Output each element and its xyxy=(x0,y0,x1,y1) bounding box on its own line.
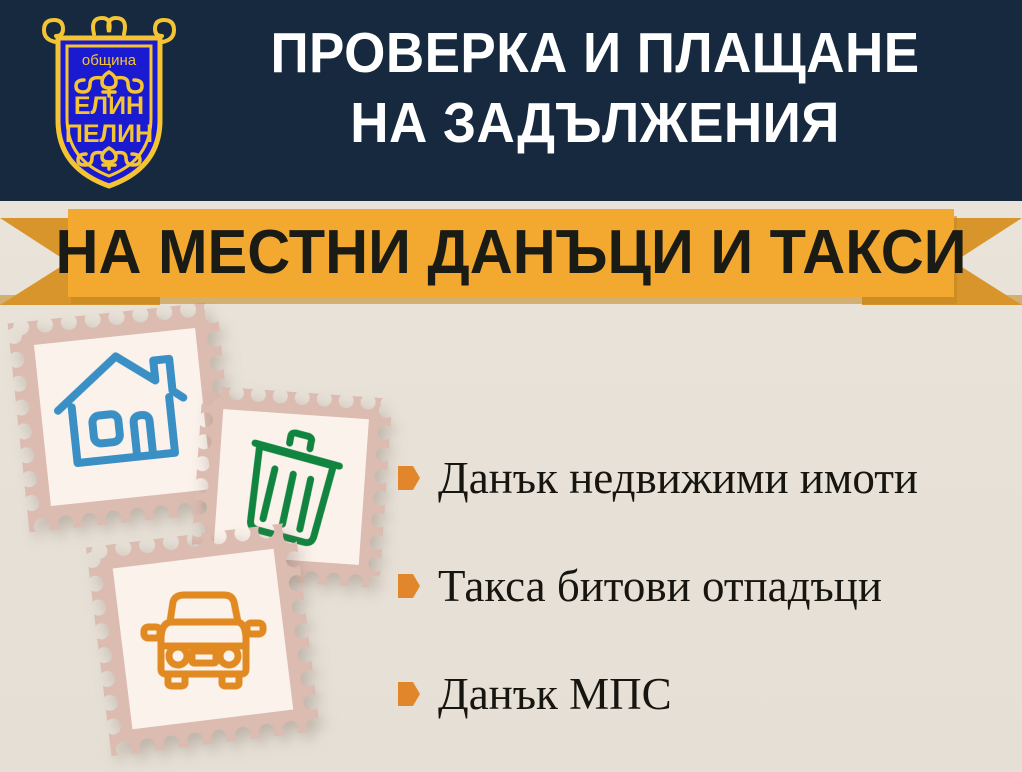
tax-type-list: Данък недвижими имоти Такса битови отпад… xyxy=(398,424,1008,748)
crest-municipality-word: община xyxy=(82,52,137,69)
page-title: ПРОВЕРКА И ПЛАЩАНЕ НА ЗАДЪЛЖЕНИЯ xyxy=(209,18,981,158)
arrow-bullet-icon xyxy=(398,466,420,490)
ribbon-band: НА МЕСТНИ ДАНЪЦИ И ТАКСИ xyxy=(68,209,954,297)
stamp-car-svg xyxy=(86,522,320,756)
list-item-label: Такса битови отпадъци xyxy=(438,561,882,611)
ribbon-banner: НА МЕСТНИ ДАНЪЦИ И ТАКСИ xyxy=(0,200,1022,305)
municipality-crest-icon: община ЕЛИН ПЕЛИН xyxy=(34,8,184,192)
list-item-label: Данък недвижими имоти xyxy=(438,453,918,503)
ribbon-subtitle: НА МЕСТНИ ДАНЪЦИ И ТАКСИ xyxy=(86,209,937,297)
arrow-bullet-icon xyxy=(398,682,420,706)
crest-name-line-2: ПЕЛИН xyxy=(65,120,153,148)
list-item: Такса битови отпадъци xyxy=(398,532,1008,640)
list-item: Данък недвижими имоти xyxy=(398,424,1008,532)
list-item-label: Данък МПС xyxy=(438,669,672,719)
header-banner: община ЕЛИН ПЕЛИН ПРОВ xyxy=(0,0,1022,201)
arrow-bullet-icon xyxy=(398,574,420,598)
stamp-card-vehicle xyxy=(86,522,320,756)
poster-canvas: община ЕЛИН ПЕЛИН ПРОВ xyxy=(0,0,1022,772)
list-item: Данък МПС xyxy=(398,640,1008,748)
crest-name-line-1: ЕЛИН xyxy=(74,92,144,120)
